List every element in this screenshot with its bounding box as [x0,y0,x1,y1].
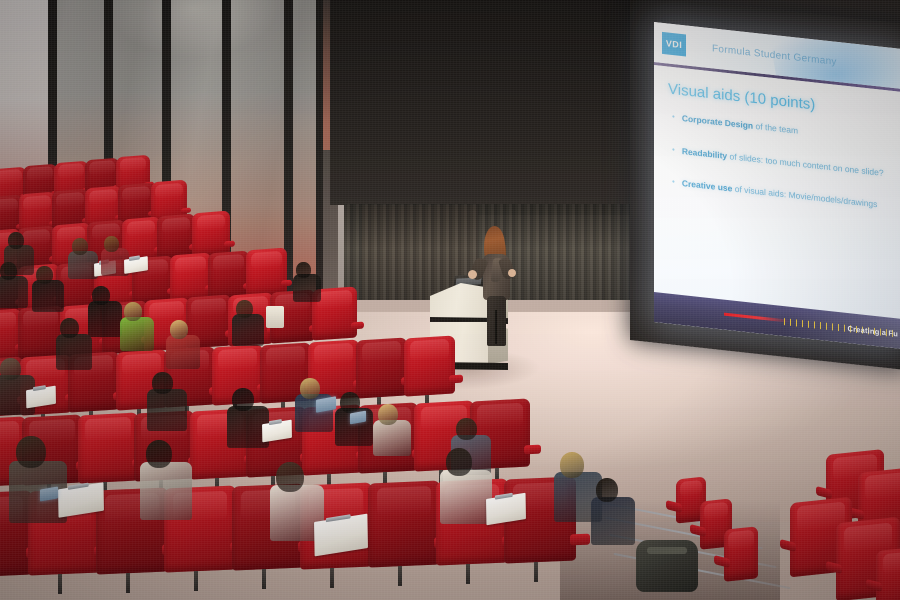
attendee-mid-5 [236,300,268,350]
slide-bullet: • Readability of slides: too much conten… [672,145,892,180]
attendee-back-2 [72,238,102,283]
auditorium-photo: VDI Formula Student Germany Visual aids … [0,0,900,600]
notepad-clip [68,483,89,490]
auditorium-seat[interactable] [404,335,455,396]
attendee-mid-6 [296,262,324,306]
attendee-body [56,334,92,370]
seat-leg [58,574,62,594]
auditorium-seat[interactable] [192,210,230,257]
attendee-mid-4 [170,320,204,373]
attendee-head [560,452,584,478]
presenter-left-hand [468,270,477,279]
attendee-back-5 [36,266,68,316]
auditorium-seat[interactable] [368,480,440,567]
attendee-front-2 [146,440,198,526]
attendee-mid-12 [378,404,416,461]
auditorium-seat[interactable] [78,412,138,483]
attendee-head [596,478,618,502]
right-row-h[interactable] [724,526,758,582]
presentation-slide: VDI Formula Student Germany Visual aids … [654,22,900,349]
notepad-clip [33,385,47,391]
notepad-clip [269,419,283,425]
attendee-front-3 [276,462,330,548]
bullet-text: Readability of slides: too much content … [682,146,884,179]
auditorium-seat[interactable] [208,250,249,300]
attendee-mid-7 [0,358,40,420]
attendee-body [140,462,192,520]
attendee-head [232,388,254,411]
attendee-head [446,448,472,476]
attendee-head [152,372,173,394]
bullet-text: Creative use of visual aids: Movie/model… [682,178,878,210]
attendee-head [340,392,360,413]
seat-leg [534,562,538,582]
backpack-strap [647,547,687,554]
attendee-mid-3 [60,318,96,374]
seat-armrest [351,321,364,329]
notepad-clip [495,493,513,500]
attendee-body [32,280,64,312]
attendee-head [36,266,53,284]
notepad-clip [326,514,351,522]
presenter-leg-gap [495,310,497,344]
attendee-head [124,302,142,321]
seat-leg [466,564,470,584]
attendee-body [0,276,28,308]
projection-screen[interactable]: VDI Formula Student Germany Visual aids … [654,22,900,349]
attendee-head [378,404,398,425]
attendee-front-4 [446,448,498,530]
attendee-head [300,378,320,399]
attendee-front-1 [16,436,74,530]
seat-armrest [224,240,235,247]
attendee-head [0,358,21,380]
attendee-body [440,470,492,524]
notepad-clip [129,255,140,261]
attendee-mid-8 [152,372,192,436]
footer-red-accent [724,313,789,323]
attendee-back-3 [104,236,132,280]
attendee-body [591,497,635,545]
auditorium-seat[interactable] [246,248,287,298]
bullet-marker-icon: • [672,112,675,123]
attendee-head [92,286,110,305]
attendee-head [456,418,477,440]
attendee-mid-9 [232,388,274,453]
attendee-head [170,320,188,339]
seat-leg [194,571,198,591]
slide-organization-label: Formula Student Germany [712,43,837,68]
stage-backwall [330,0,670,205]
attendee-head [60,318,79,338]
attendee-body [120,317,154,351]
auditorium-seat[interactable] [356,337,407,398]
slide-footer-text: Creating a Fu [847,324,898,338]
seat-armrest [524,444,541,454]
attendee-head [296,262,311,278]
attendee-head [104,236,119,252]
bullet-marker-icon: • [672,177,675,188]
attendee-back-4 [0,262,32,312]
attendee-body [293,274,321,302]
presenter [474,228,520,346]
seat-leg [126,573,130,593]
attendee-head [276,462,304,492]
attendee-head [16,436,46,468]
attendee-body [232,314,264,346]
slide-body: Visual aids (10 points) • Corporate Desi… [654,65,900,319]
seat-leg [330,568,334,588]
bullet-text: Corporate Design of the team [682,113,798,136]
attendee-body [147,389,187,431]
vdi-logo-icon: VDI [662,32,686,57]
bullet-marker-icon: • [672,145,675,156]
slide-bullet: • Creative use of visual aids: Movie/mod… [672,177,892,212]
seat-armrest [570,533,590,545]
attendee-head [72,238,88,255]
attendee-head [8,232,24,249]
seat-leg [398,566,402,586]
attendee-head [236,300,253,318]
floor-box [266,306,284,328]
presenter-right-hand [508,269,516,277]
attendee-body [373,420,411,456]
attendee-body [166,335,200,369]
attendee-right-1 [596,478,640,550]
backpack-on-stairs [636,540,698,592]
seat-leg [262,569,266,589]
attendee-head [146,440,172,468]
right-row-e[interactable] [876,545,900,600]
attendee-head [0,262,17,280]
seat-armrest [449,374,463,382]
attendee-mid-2 [124,302,158,355]
